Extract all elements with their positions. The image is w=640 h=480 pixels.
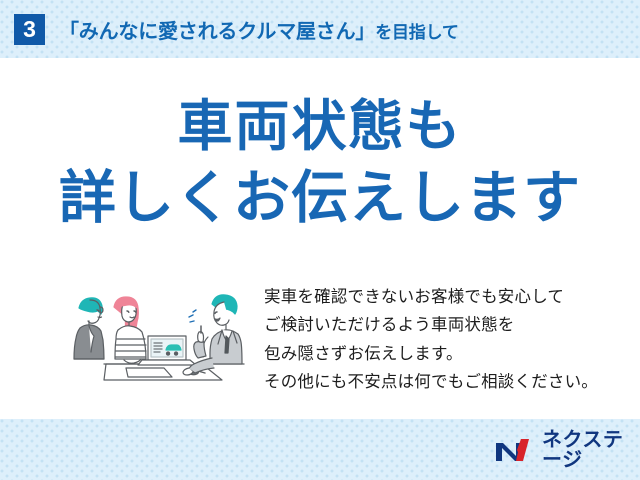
document bbox=[126, 368, 172, 377]
step-number-badge: 3 bbox=[14, 14, 45, 45]
brand-name: ネクステージ bbox=[542, 430, 640, 470]
illustration-svg bbox=[62, 280, 252, 392]
female-top bbox=[115, 326, 146, 359]
body-copy-line-2: ご検討いただけるよう車両状態を bbox=[264, 311, 624, 339]
body-copy-line-3: 包み隠さずお伝えします。 bbox=[264, 340, 624, 368]
headline-line-2: 詳しくお伝えします bbox=[0, 162, 640, 234]
bottom-content: 実車を確認できないお客様でも安心して ご検討いただけるよう車両状態を 包み隠さず… bbox=[0, 280, 640, 405]
page-title: 車両状態も 詳しくお伝えします bbox=[0, 92, 640, 234]
body-copy-line-4: その他にも不安点は何でもご相談ください。 bbox=[264, 368, 624, 396]
headline-line-1: 車両状態も bbox=[177, 95, 462, 157]
staff-tie bbox=[225, 336, 229, 353]
brand-logo: ネクステージ bbox=[494, 436, 640, 464]
female-hands bbox=[124, 359, 141, 363]
header: 3 「みんなに愛されるクルマ屋さん」を目指して bbox=[0, 0, 640, 58]
body-copy-line-1: 実車を確認できないお客様でも安心して bbox=[264, 283, 624, 311]
laptop bbox=[138, 336, 196, 365]
main-panel: 車両状態も 詳しくお伝えします bbox=[0, 58, 640, 419]
male-mouth bbox=[98, 317, 102, 318]
customer-consultation-illustration bbox=[62, 280, 252, 392]
promo-slide: 3 「みんなに愛されるクルマ屋さん」を目指して 車両状態も 詳しくお伝えします bbox=[0, 0, 640, 480]
header-title: 「みんなに愛されるクルマ屋さん」を目指して bbox=[59, 15, 459, 44]
staff-sleeve bbox=[194, 341, 206, 358]
header-title-quoted: 「みんなに愛されるクルマ屋さん」 bbox=[59, 21, 375, 43]
speech-sparkles bbox=[189, 310, 196, 322]
male-jacket bbox=[74, 325, 104, 359]
nextage-n-logo-icon bbox=[494, 437, 534, 463]
body-copy: 実車を確認できないお客様でも安心して ご検討いただけるよう車両状態を 包み隠さず… bbox=[264, 283, 624, 397]
header-title-suffix: を目指して bbox=[375, 23, 459, 42]
